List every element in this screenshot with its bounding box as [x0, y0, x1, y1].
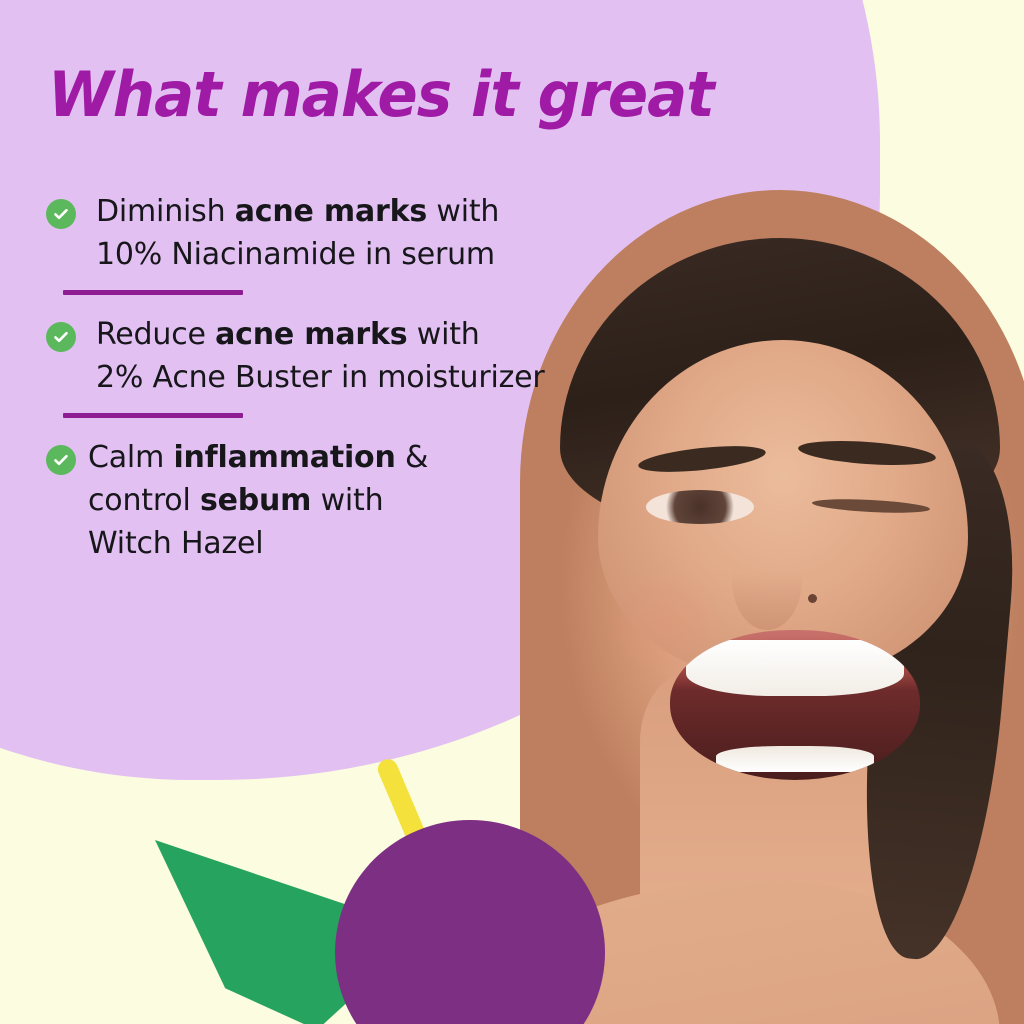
page-title: What makes it great	[48, 58, 714, 131]
benefit-line2-bold: sebum	[200, 483, 311, 518]
benefit-line1-post: with	[407, 317, 479, 352]
benefit-line2: 10% Niacinamide in serum	[96, 237, 495, 272]
benefit-line2-post: with	[311, 483, 383, 518]
promo-poster: What makes it great Diminish acne marks …	[0, 0, 1024, 1024]
benefit-line1-post: with	[427, 194, 499, 229]
benefit-line1-bold: acne marks	[235, 194, 427, 229]
benefit-text: Reduce acne marks with 2% Acne Buster in…	[96, 313, 545, 399]
check-circle-icon	[46, 199, 76, 229]
list-item: Diminish acne marks with 10% Niacinamide…	[46, 190, 646, 295]
benefit-text: Calm inflammation & control sebum with W…	[88, 436, 428, 565]
benefit-line1-bold: inflammation	[173, 440, 395, 475]
benefit-line1-pre: Reduce	[96, 317, 215, 352]
list-item: Reduce acne marks with 2% Acne Buster in…	[46, 313, 646, 418]
list-item: Calm inflammation & control sebum with W…	[46, 436, 646, 565]
divider	[63, 413, 243, 418]
benefit-row: Calm inflammation & control sebum with W…	[46, 436, 646, 565]
benefit-line2: 2% Acne Buster in moisturizer	[96, 360, 545, 395]
benefit-line1-pre: Calm	[88, 440, 173, 475]
check-circle-icon	[46, 445, 76, 475]
benefits-list: Diminish acne marks with 10% Niacinamide…	[46, 190, 646, 565]
benefit-row: Reduce acne marks with 2% Acne Buster in…	[46, 313, 646, 399]
benefit-line1-bold: acne marks	[215, 317, 407, 352]
benefit-row: Diminish acne marks with 10% Niacinamide…	[46, 190, 646, 276]
divider	[63, 290, 243, 295]
benefit-line3: Witch Hazel	[88, 526, 263, 561]
content-layer: What makes it great Diminish acne marks …	[0, 0, 1024, 1024]
benefit-text: Diminish acne marks with 10% Niacinamide…	[96, 190, 499, 276]
benefit-line1-post: &	[396, 440, 429, 475]
benefit-line2-pre: control	[88, 483, 200, 518]
check-circle-icon	[46, 322, 76, 352]
benefit-line1-pre: Diminish	[96, 194, 235, 229]
